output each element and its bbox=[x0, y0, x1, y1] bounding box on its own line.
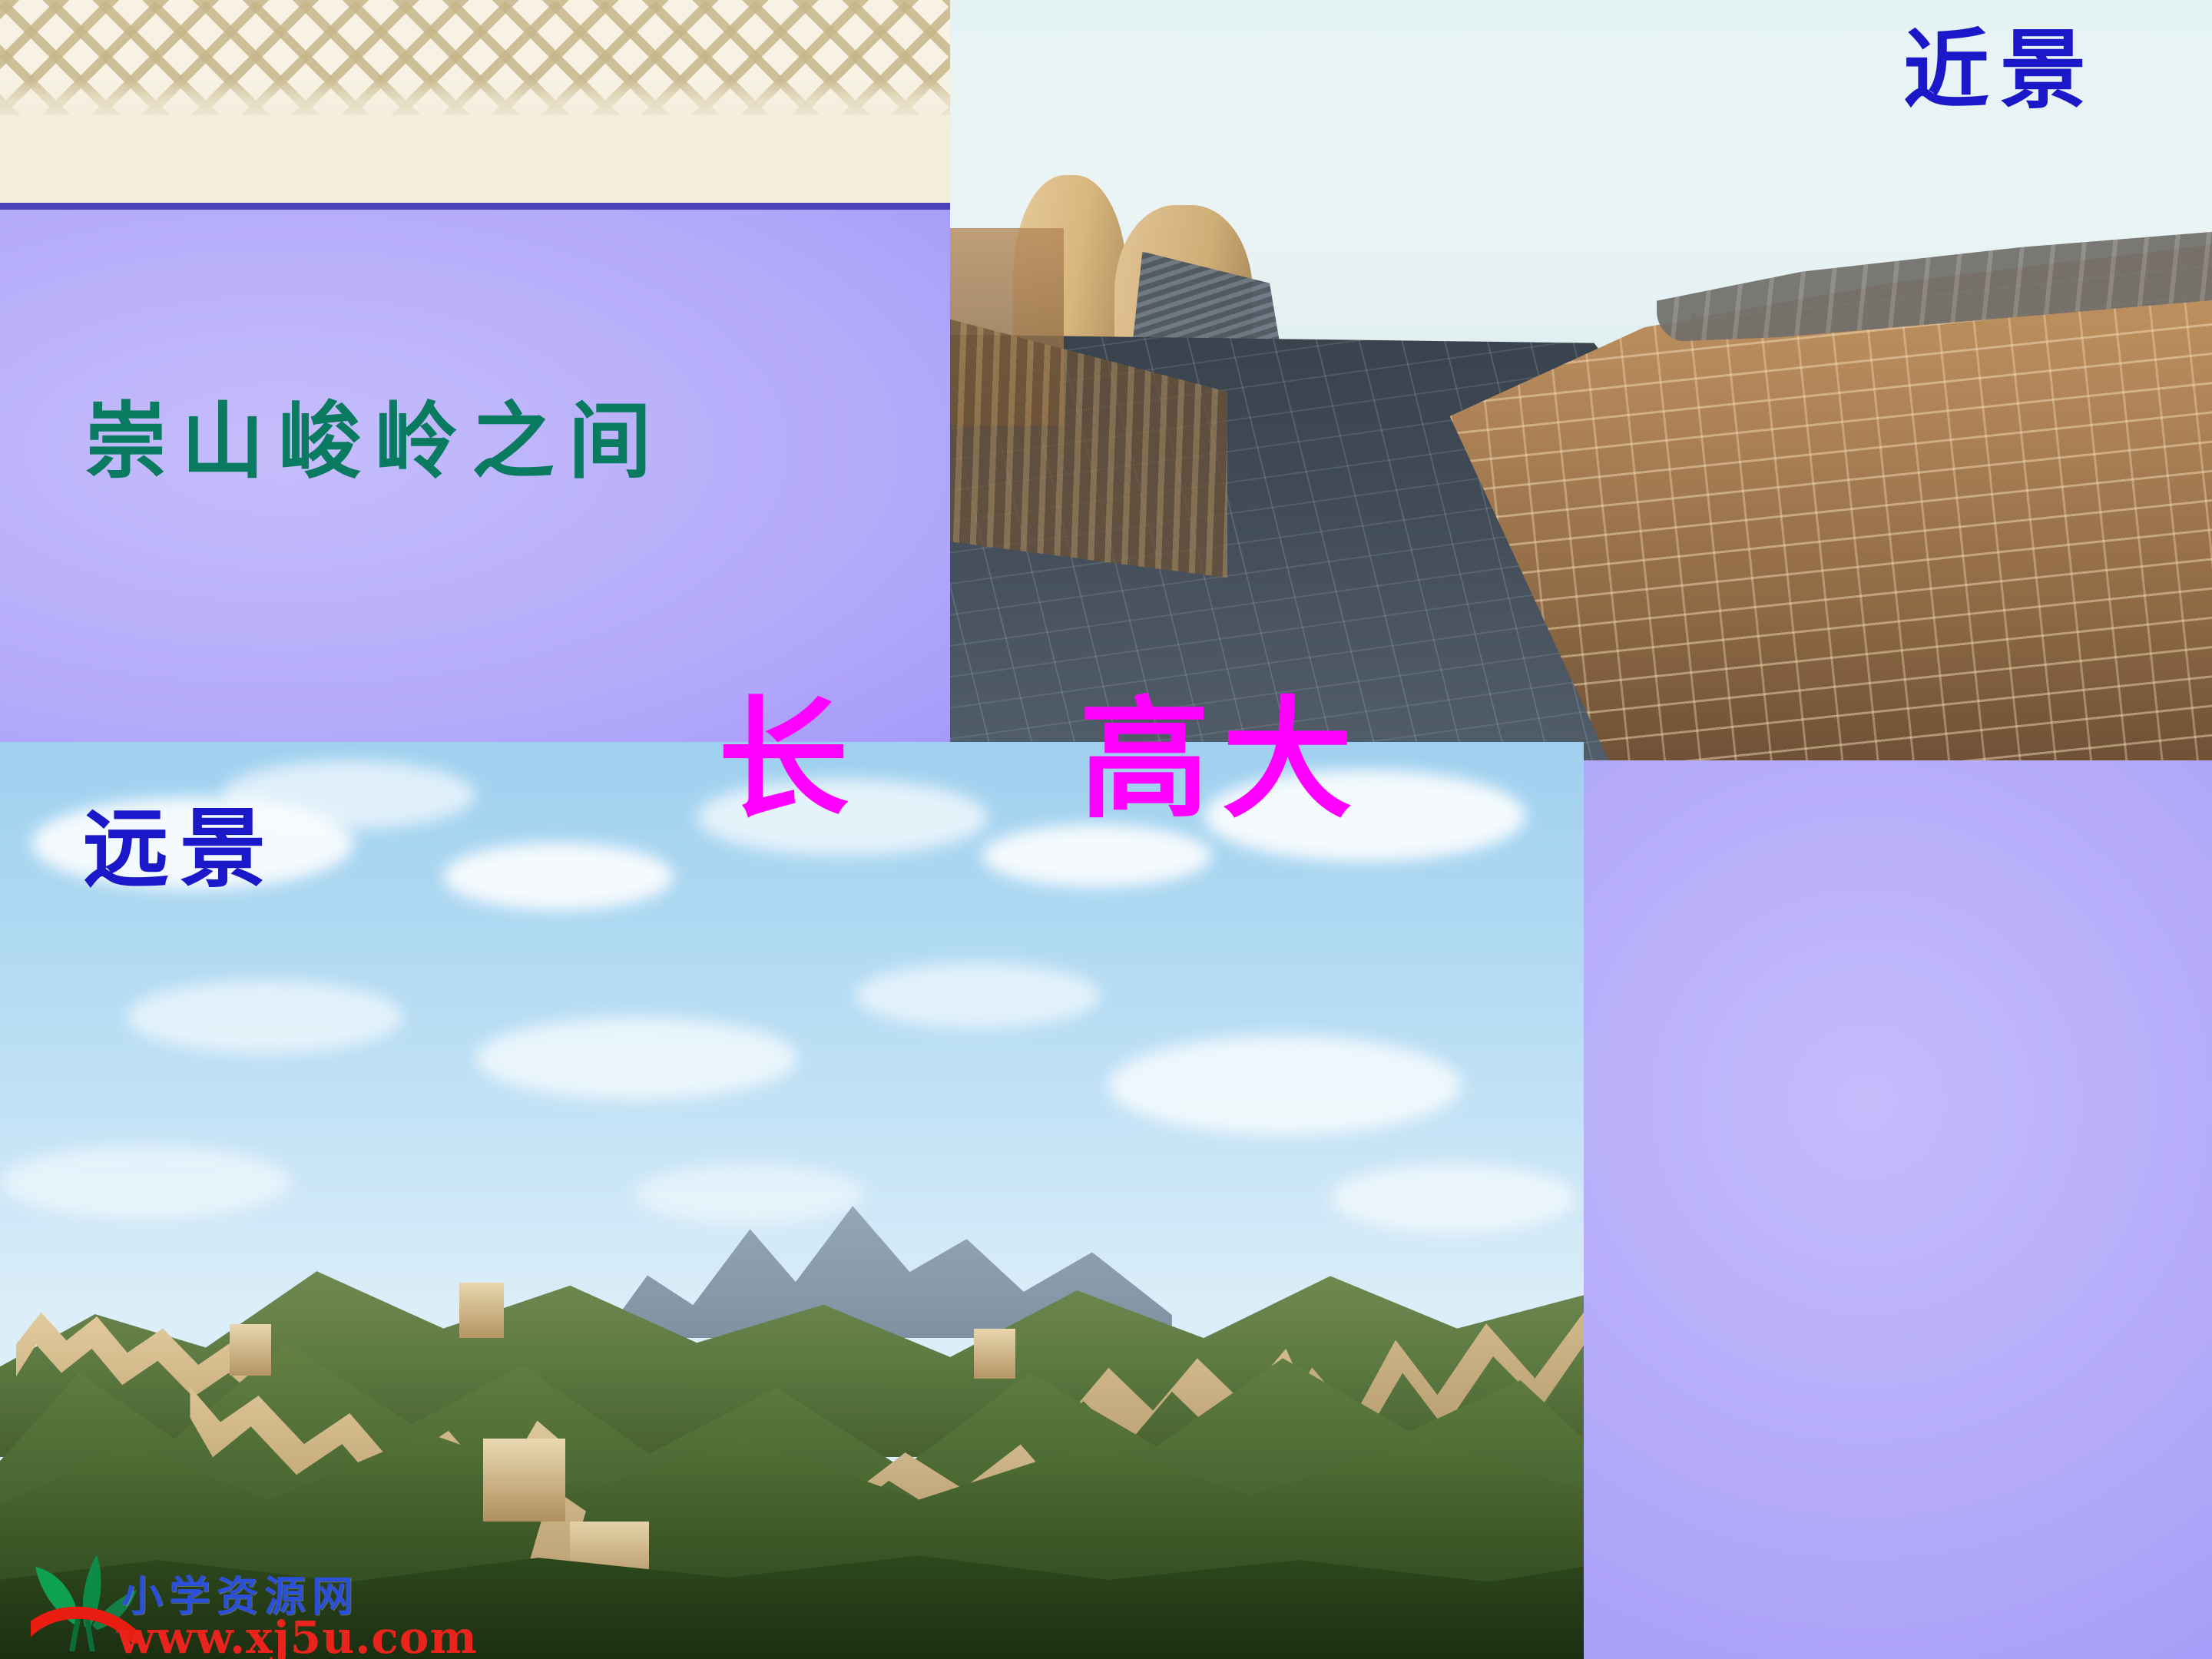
caption-emphasis-long: 长 bbox=[718, 695, 849, 826]
far-photo-cloud bbox=[1330, 1164, 1576, 1233]
ornamental-border-band bbox=[0, 0, 950, 203]
far-photo-watchtower bbox=[483, 1439, 565, 1521]
caption-emphasis-tall: 高大 bbox=[1079, 695, 1365, 826]
caption-near-view: 近景 bbox=[1903, 28, 2097, 114]
far-photo-cloud bbox=[127, 980, 403, 1054]
far-photo-cloud bbox=[443, 843, 674, 910]
far-photo-cloud bbox=[1108, 1035, 1462, 1135]
far-photo-watchtower bbox=[974, 1329, 1015, 1378]
caption-mountains-phrase: 崇山峻岭之间 bbox=[84, 401, 665, 484]
far-photo-cloud bbox=[475, 1017, 798, 1100]
slide-canvas: 近景 远景 崇山峻岭之间 长 高大 小学资源网 www.xj5u.com bbox=[0, 0, 2212, 1659]
far-photo-cloud bbox=[0, 1145, 292, 1219]
watermark: 小学资源网 www.xj5u.com bbox=[31, 1551, 430, 1659]
ornament-base-strip bbox=[0, 115, 950, 203]
far-photo-watchtower bbox=[459, 1283, 504, 1338]
watermark-url: www.xj5u.com bbox=[117, 1611, 478, 1659]
caption-far-view: 远景 bbox=[83, 806, 276, 892]
far-photo-watchtower bbox=[230, 1324, 271, 1376]
far-photo-cloud bbox=[634, 1164, 864, 1225]
right-purple-panel bbox=[1584, 760, 2212, 1659]
far-photo-cloud bbox=[855, 962, 1101, 1028]
